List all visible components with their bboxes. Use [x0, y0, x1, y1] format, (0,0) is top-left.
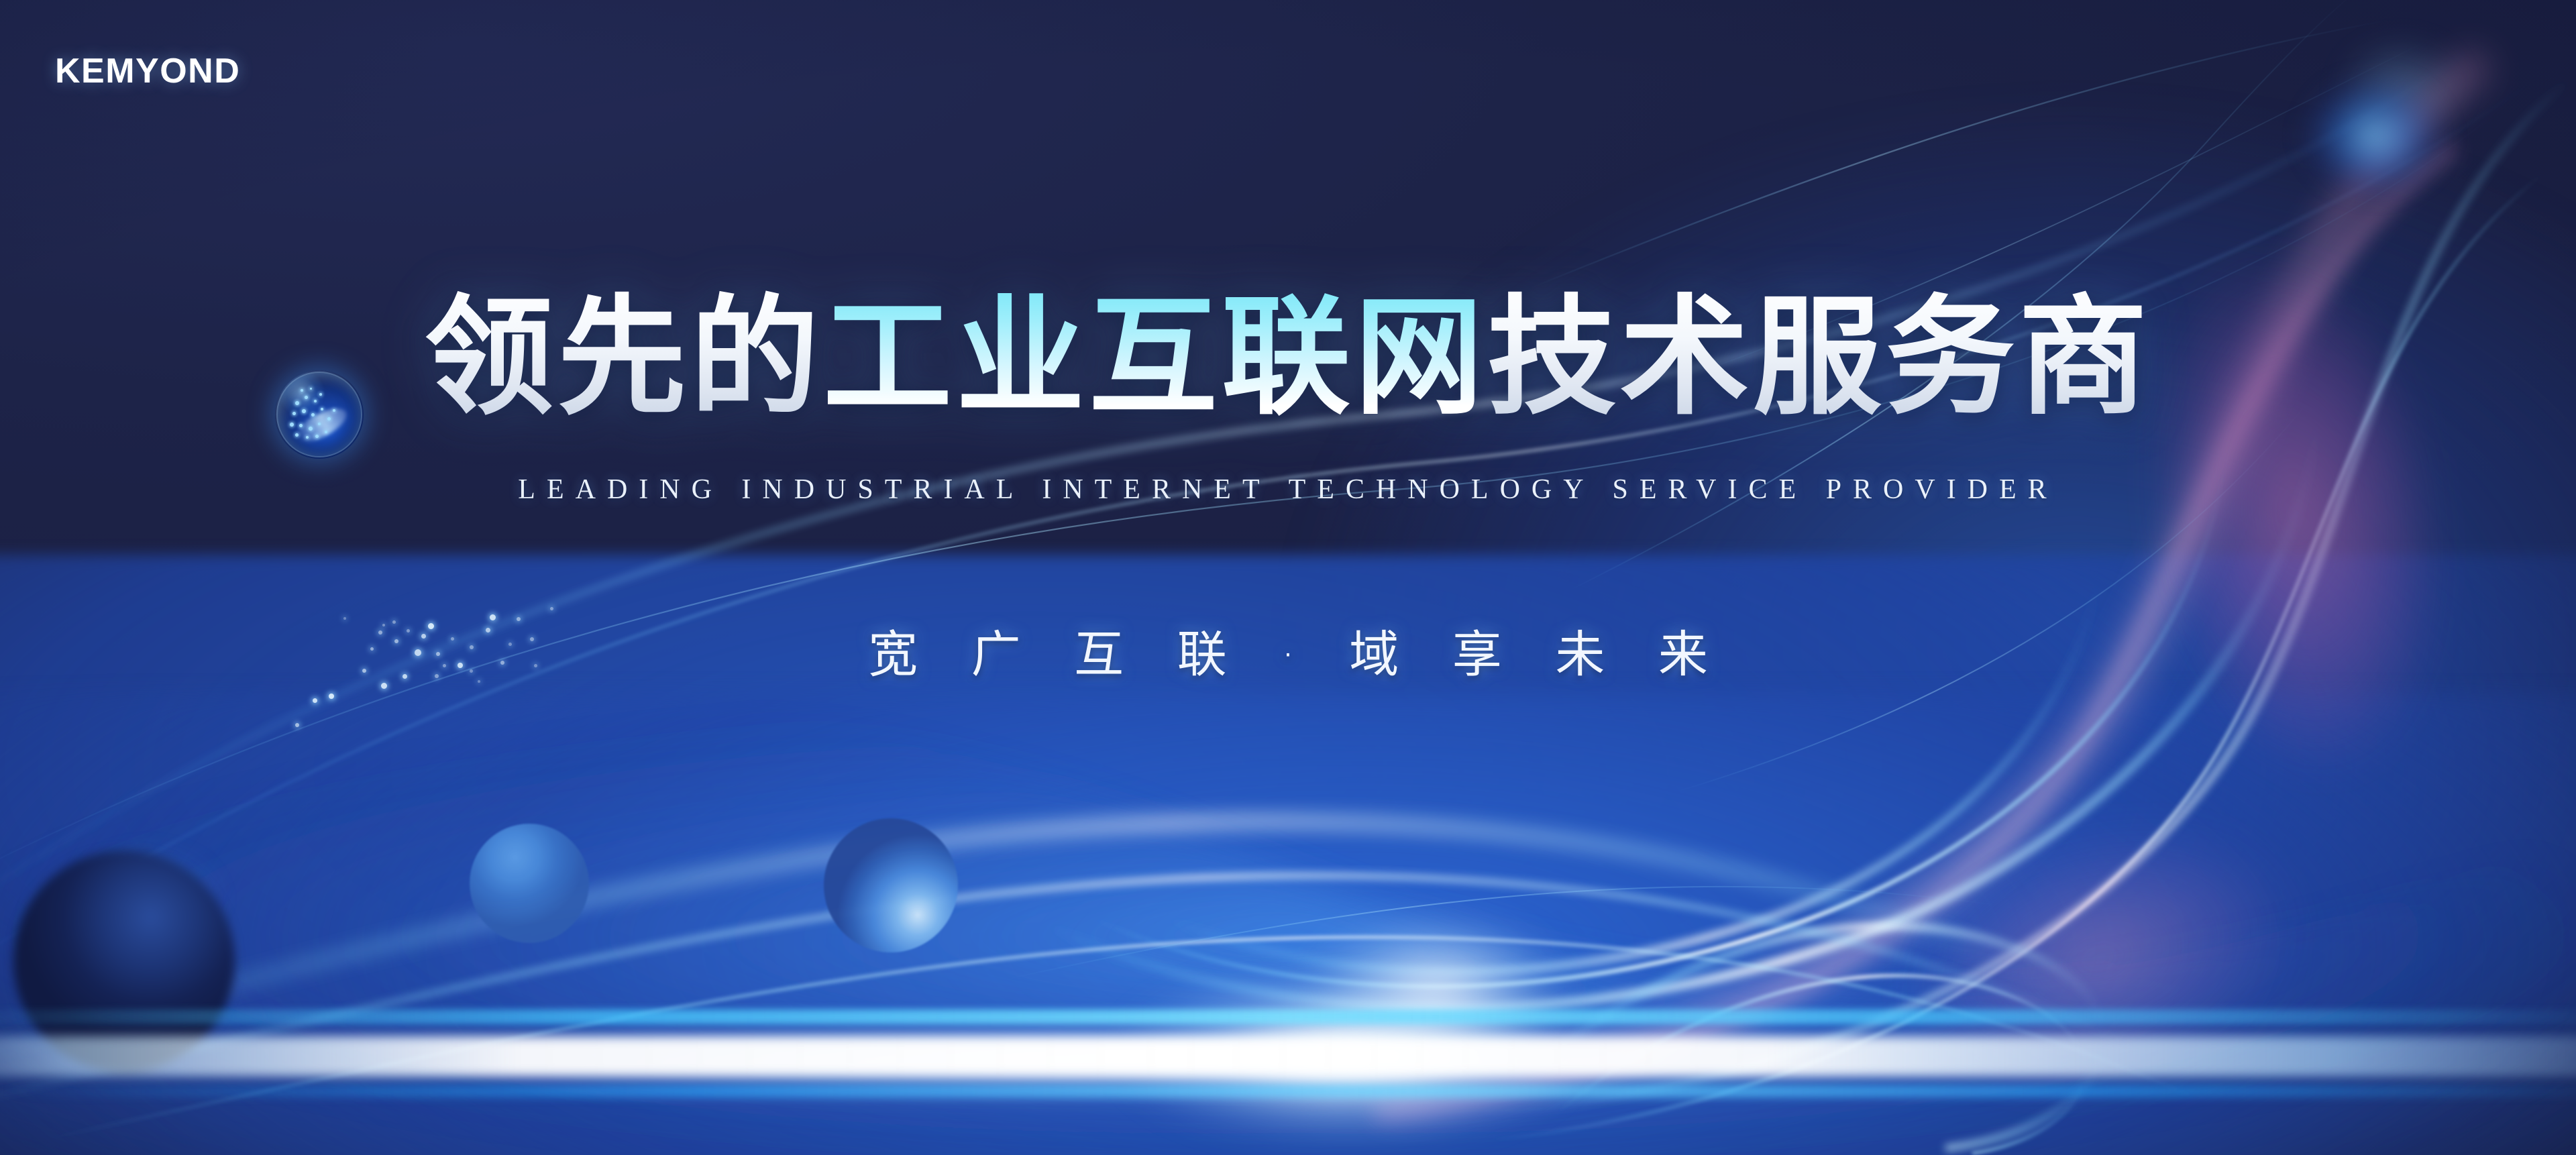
headline-part-industrial-internet: 工业互联网 — [823, 283, 1487, 433]
headline-part-tech-service-provider: 技术服务商 — [1487, 283, 2151, 433]
page-title: 领先的工业互联网技术服务商 — [0, 294, 2576, 423]
headline-part-leading: 领先的 — [425, 283, 823, 433]
brand-logo[interactable]: KEMYOND — [55, 51, 240, 91]
banner-poster: KEMYOND 领先的工业互联网技术服务商 LEADING INDUSTRIAL… — [0, 0, 2576, 1155]
subtitle-english: LEADING INDUSTRIAL INTERNET TECHNOLOGY S… — [0, 474, 2576, 506]
slogan-text: 宽 广 互 联 · 域 享 未 来 — [0, 614, 2576, 686]
light-ribbons-artwork — [0, 0, 2576, 1155]
